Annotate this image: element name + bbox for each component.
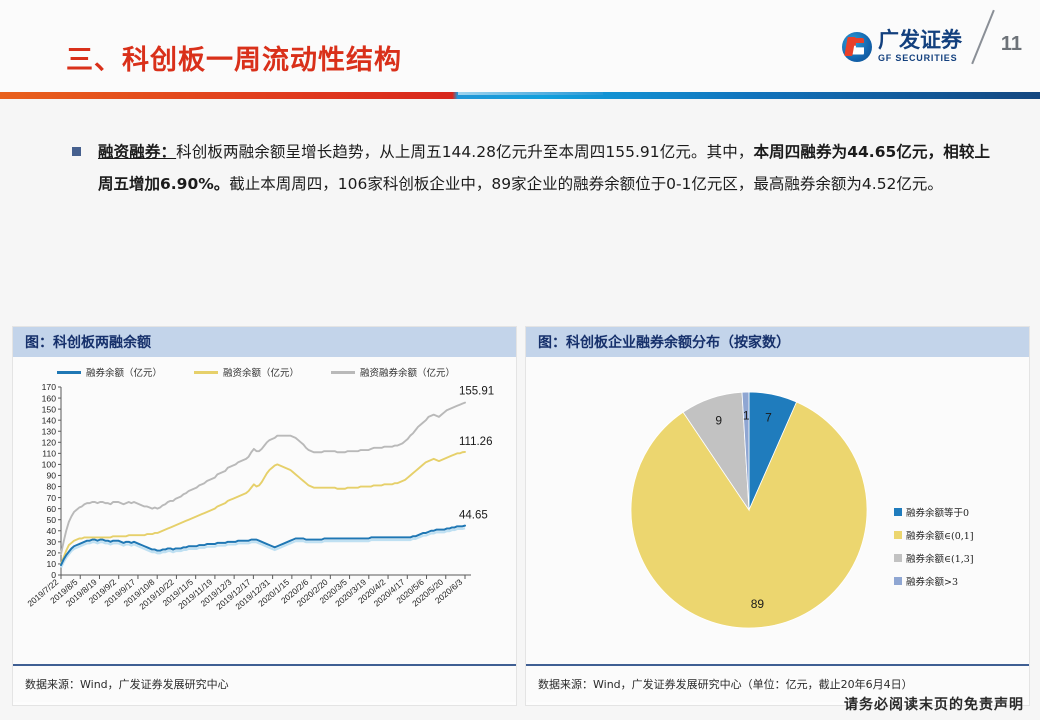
brand-logo-text: 广发证券 GF SECURITIES — [878, 30, 962, 63]
svg-text:130: 130 — [42, 426, 57, 436]
pie-chart-plot: 78991 — [614, 375, 894, 645]
paragraph-part-1: 科创板两融余额呈增长趋势，从上周五144.28亿元升至本周四155.91亿元。其… — [176, 143, 753, 161]
svg-text:7: 7 — [765, 411, 772, 425]
svg-text:10: 10 — [46, 559, 56, 569]
legend-label-rongquan: 融券余额（亿元） — [86, 365, 162, 379]
pie-legend-swatch-3 — [894, 577, 902, 585]
figure-title-left: 图：科创板两融余额 — [25, 332, 151, 352]
svg-text:111.26: 111.26 — [459, 436, 492, 448]
svg-text:60: 60 — [46, 504, 56, 514]
pie-legend-swatch-2 — [894, 554, 902, 562]
page-title: 三、科创板一周流动性结构 — [66, 38, 402, 77]
pie-legend-swatch-0 — [894, 508, 902, 516]
pie-legend-swatch-1 — [894, 531, 902, 539]
figure-panel-pie-chart: 图：科创板企业融券余额分布（按家数） 78991 融券余额等于0融券余额∈(0,… — [525, 326, 1030, 706]
pie-legend-label-0: 融券余额等于0 — [906, 505, 969, 519]
paragraph: 融资融券：科创板两融余额呈增长趋势，从上周五144.28亿元升至本周四155.9… — [98, 137, 990, 201]
svg-text:170: 170 — [42, 382, 57, 392]
figure-header-left: 图：科创板两融余额 — [13, 327, 516, 357]
svg-text:120: 120 — [42, 437, 57, 447]
figure-panel-line-chart: 图：科创板两融余额 融券余额（亿元） 融资余额（亿元） 融资融券余额（亿元） 0… — [12, 326, 517, 706]
brand-name-cn: 广发证券 — [878, 30, 962, 51]
pie-legend-item-3: 融券余额>3 — [894, 574, 974, 588]
line-chart-legend: 融券余额（亿元） 融资余额（亿元） 融资融券余额（亿元） — [57, 365, 455, 379]
brand-logo: 广发证券 GF SECURITIES — [842, 30, 962, 63]
figure-body-left: 融券余额（亿元） 融资余额（亿元） 融资融券余额（亿元） 01020304050… — [13, 357, 516, 664]
legend-item-total: 融资融券余额（亿元） — [331, 365, 455, 379]
bullet-square-icon — [72, 147, 81, 156]
line-chart-plot: 0102030405060708090100110120130140150160… — [13, 379, 516, 664]
legend-swatch-total — [331, 371, 355, 374]
svg-text:140: 140 — [42, 415, 57, 425]
figure-source-right: 数据来源：Wind，广发证券发展研究中心（单位：亿元，截止20年6月4日） — [538, 676, 913, 692]
figure-body-right: 78991 融券余额等于0融券余额∈(0,1]融券余额∈(1,3]融券余额>3 — [526, 357, 1029, 664]
svg-text:100: 100 — [42, 460, 57, 470]
legend-swatch-rongzi — [194, 371, 218, 374]
svg-text:89: 89 — [751, 597, 765, 611]
pie-legend-item-1: 融券余额∈(0,1] — [894, 528, 974, 542]
svg-text:70: 70 — [46, 493, 56, 503]
figure-footer-left: 数据来源：Wind，广发证券发展研究中心 — [13, 664, 516, 702]
svg-text:110: 110 — [42, 449, 56, 459]
svg-text:50: 50 — [46, 515, 56, 525]
paragraph-part-2: 截止本周周四，106家科创板企业中，89家企业的融券余额位于0-1亿元区，最高融… — [229, 175, 943, 193]
header-accent-bar — [0, 92, 1040, 99]
pie-legend-item-0: 融券余额等于0 — [894, 505, 974, 519]
svg-text:80: 80 — [46, 482, 56, 492]
pie-legend-label-2: 融券余额∈(1,3] — [906, 551, 974, 565]
slide-root: 三、科创板一周流动性结构 广发证券 GF SECURITIES 11 融资融券：… — [0, 0, 1040, 720]
pie-legend-item-2: 融券余额∈(1,3] — [894, 551, 974, 565]
legend-swatch-rongquan — [57, 371, 81, 374]
svg-text:155.91: 155.91 — [459, 386, 494, 398]
brand-name-en: GF SECURITIES — [878, 54, 962, 63]
svg-text:40: 40 — [46, 526, 56, 536]
pie-legend-label-1: 融券余额∈(0,1] — [906, 528, 974, 542]
svg-text:150: 150 — [42, 404, 57, 414]
pie-legend-label-3: 融券余额>3 — [906, 574, 958, 588]
svg-text:30: 30 — [46, 537, 56, 547]
svg-text:20: 20 — [46, 548, 56, 558]
gf-logo-icon — [842, 32, 872, 62]
svg-text:90: 90 — [46, 471, 56, 481]
divider-slash-icon — [971, 10, 995, 65]
legend-label-rongzi: 融资余额（亿元） — [223, 365, 299, 379]
legend-item-rongzi: 融资余额（亿元） — [194, 365, 299, 379]
page-number: 11 — [1001, 33, 1022, 56]
svg-text:160: 160 — [42, 393, 57, 403]
pie-chart-legend: 融券余额等于0融券余额∈(0,1]融券余额∈(1,3]融券余额>3 — [894, 505, 974, 597]
body-text-block: 融资融券：科创板两融余额呈增长趋势，从上周五144.28亿元升至本周四155.9… — [60, 137, 990, 201]
svg-text:1: 1 — [743, 409, 750, 423]
svg-text:9: 9 — [715, 414, 722, 428]
legend-item-rongquan: 融券余额（亿元） — [57, 365, 162, 379]
svg-text:44.65: 44.65 — [459, 510, 488, 522]
paragraph-lead-label: 融资融券： — [98, 143, 176, 161]
figure-source-left: 数据来源：Wind，广发证券发展研究中心 — [25, 676, 229, 692]
slide-header: 三、科创板一周流动性结构 广发证券 GF SECURITIES 11 — [0, 0, 1040, 92]
disclaimer-note: 请务必阅读末页的免责声明 — [844, 694, 1024, 714]
legend-label-total: 融资融券余额（亿元） — [360, 365, 455, 379]
figure-header-right: 图：科创板企业融券余额分布（按家数） — [526, 327, 1029, 357]
figure-title-right: 图：科创板企业融券余额分布（按家数） — [538, 332, 790, 352]
